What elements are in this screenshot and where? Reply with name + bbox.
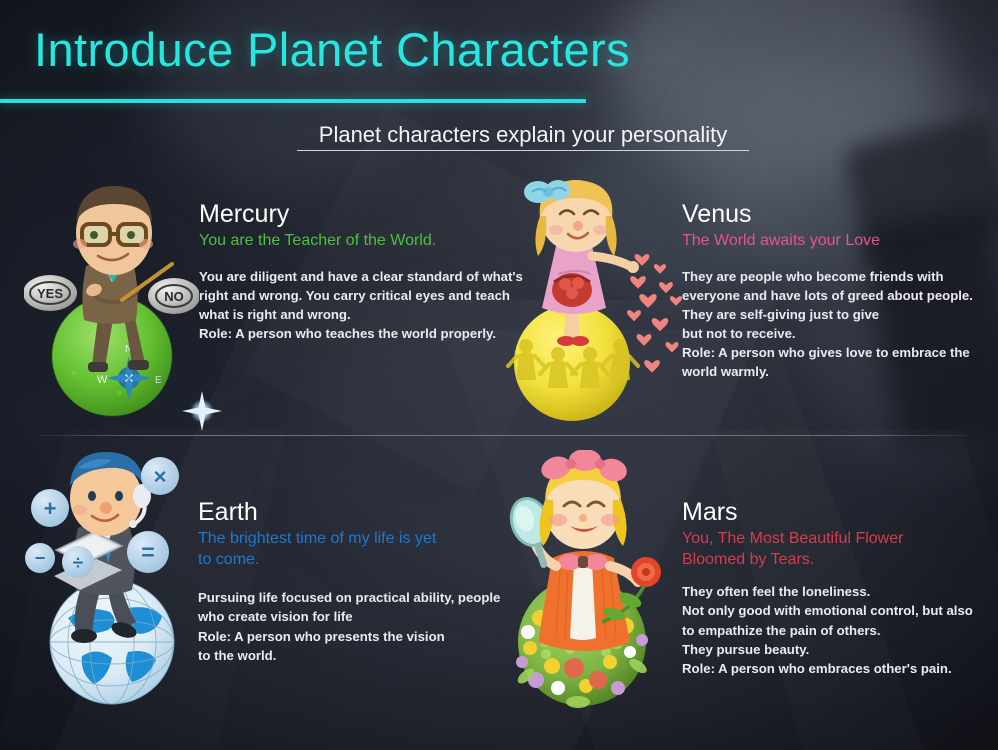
mars-body: They often feel the loneliness. Not only… xyxy=(682,582,982,659)
mars-illustration xyxy=(490,450,690,718)
mercury-tagline: You are the Teacher of the World. xyxy=(199,231,529,252)
venus-illustration xyxy=(500,178,695,426)
venus-role: Role: A person who gives love to embrace… xyxy=(682,343,982,381)
yes-bubble: YES xyxy=(24,275,77,311)
earth-text: Earth The brightest time of my life is y… xyxy=(198,498,518,665)
earth-name: Earth xyxy=(198,498,518,527)
mercury-body: You are diligent and have a clear standa… xyxy=(199,267,524,324)
earth-body: Pursuing life focused on practical abili… xyxy=(198,588,518,626)
heart-basket xyxy=(552,273,592,307)
page-title: Introduce Planet Characters xyxy=(34,24,630,76)
planet-card-earth[interactable]: + − ÷ × = Earth The brightest time of my… xyxy=(20,450,520,720)
planet-card-venus[interactable]: Venus The World awaits your Love They ar… xyxy=(500,178,990,428)
sparkle-icon xyxy=(181,390,223,432)
svg-text:NO: NO xyxy=(164,289,184,304)
venus-arm xyxy=(592,256,630,266)
svg-text:=: = xyxy=(141,539,154,565)
svg-text:YES: YES xyxy=(37,286,63,301)
svg-text:−: − xyxy=(35,548,46,568)
section-divider xyxy=(36,435,970,436)
earth-tagline: The brightest time of my life is yet to … xyxy=(198,529,448,571)
apron xyxy=(570,560,596,640)
earth-illustration: + − ÷ × = xyxy=(20,450,210,715)
svg-text:×: × xyxy=(154,464,167,489)
svg-text:E: E xyxy=(155,375,162,386)
mars-role: Role: A person who embraces other's pain… xyxy=(682,659,982,678)
mars-tagline: You, The Most Beautiful Flower Bloomed b… xyxy=(682,529,942,571)
no-bubble: NO xyxy=(148,278,199,314)
mercury-name: Mercury xyxy=(199,200,529,229)
subtitle-underline xyxy=(297,150,749,151)
venus-name: Venus xyxy=(682,200,982,229)
venus-tagline: The World awaits your Love xyxy=(682,231,982,252)
mercury-role: Role: A person who teaches the world pro… xyxy=(199,324,529,343)
waist-bow-icon xyxy=(558,554,608,570)
mercury-text: Mercury You are the Teacher of the World… xyxy=(199,200,529,343)
mars-name: Mars xyxy=(682,498,982,527)
venus-text: Venus The World awaits your Love They ar… xyxy=(682,200,982,381)
venus-shoe xyxy=(571,336,589,346)
svg-text:W: W xyxy=(97,374,108,386)
title-underline xyxy=(0,99,586,103)
planet-card-mars[interactable]: Mars You, The Most Beautiful Flower Bloo… xyxy=(490,450,990,720)
venus-body: They are people who become friends with … xyxy=(682,267,982,344)
svg-text:+: + xyxy=(44,496,57,521)
page-subtitle: Planet characters explain your personali… xyxy=(297,122,749,148)
planet-card-mercury[interactable]: W N E YES NO xyxy=(24,178,524,428)
mars-text: Mars You, The Most Beautiful Flower Bloo… xyxy=(682,498,982,678)
mercury-illustration: W N E YES NO xyxy=(24,178,199,423)
svg-text:÷: ÷ xyxy=(73,553,83,574)
earth-role: Role: A person who presents the vision t… xyxy=(198,627,448,665)
